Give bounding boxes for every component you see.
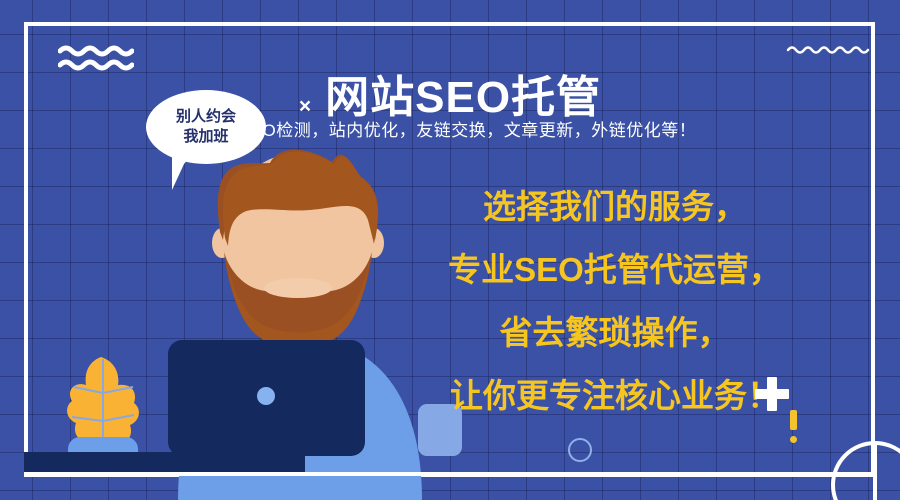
speech-bubble-line-2: 我加班	[183, 127, 228, 147]
potted-plant-icon	[48, 345, 158, 465]
speech-bubble: 别人约会 我加班	[146, 90, 266, 164]
seo-hosting-banner: 别人约会 我加班 × 网站SEO托管 含：SEO检测，站内优化，友链交换，文章更…	[0, 0, 900, 500]
desk-edge-line	[24, 472, 875, 476]
speech-bubble-line-1: 别人约会	[176, 107, 236, 127]
small-circle-icon	[568, 438, 592, 462]
desk-icon	[24, 452, 305, 474]
